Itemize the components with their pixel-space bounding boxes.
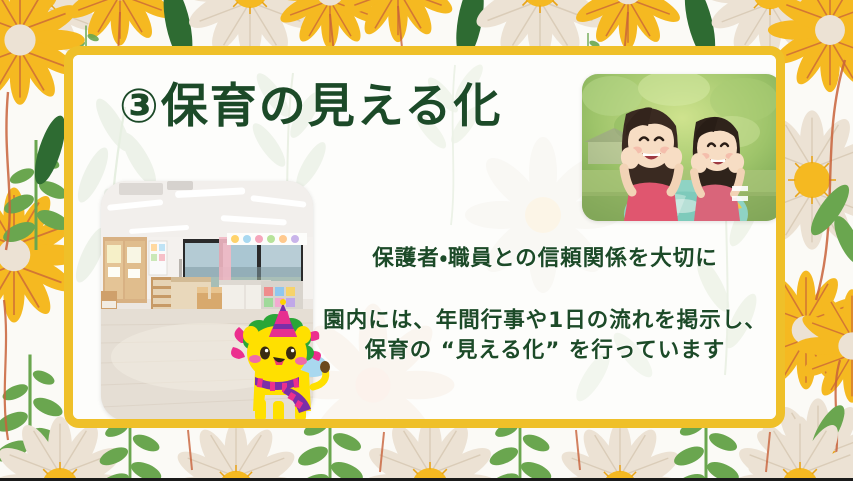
content-panel: ③保育の見える化 (64, 46, 785, 428)
body-line-1: 保護者・職員との信頼関係を大切に (319, 241, 771, 272)
body-text: 保護者・職員との信頼関係を大切に 園内には、年間行事や1日の流れを掲示し、 保育… (319, 241, 771, 365)
children-photo (582, 74, 782, 221)
body-line-2: 園内には、年間行事や1日の流れを掲示し、 (319, 306, 771, 336)
page-title: ③保育の見える化 (119, 83, 502, 130)
body-line-3: 保育の “見える化” を行っています (319, 336, 771, 366)
slide-root: ③保育の見える化 (0, 0, 853, 481)
